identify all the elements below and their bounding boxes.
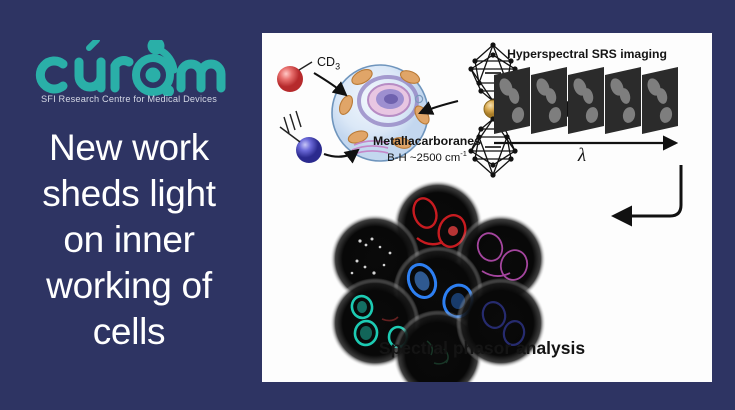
brand-column: SFI Research Centre for Medical Devices … bbox=[0, 0, 258, 410]
curam-tagline: SFI Research Centre for Medical Devices bbox=[29, 94, 229, 104]
headline-line: on inner bbox=[10, 217, 248, 263]
srs-panel bbox=[494, 67, 530, 134]
headline-line: working of bbox=[10, 263, 248, 309]
headline: New work sheds light on inner working of… bbox=[10, 125, 248, 355]
headline-line: cells bbox=[10, 309, 248, 355]
cd3-label: CD3 bbox=[317, 55, 340, 72]
poster-canvas: SFI Research Centre for Medical Devices … bbox=[0, 0, 735, 410]
logo-molecule-glyph bbox=[136, 40, 174, 96]
srs-panel bbox=[642, 67, 678, 134]
headline-line: sheds light bbox=[10, 171, 248, 217]
figure-graphic bbox=[262, 33, 712, 382]
srs-panel bbox=[531, 67, 567, 134]
curam-logo-icon bbox=[29, 40, 229, 96]
lambda-label: λ bbox=[562, 145, 602, 167]
srs-panel bbox=[605, 67, 641, 134]
alkyne-probe bbox=[280, 111, 322, 163]
metallacarboranes-caption: Metallacarboranes bbox=[337, 134, 517, 148]
feedback-arrow bbox=[614, 165, 681, 216]
bh-band-caption: B-H ~2500 cm-1 bbox=[337, 149, 517, 164]
srs-panel bbox=[568, 67, 604, 134]
hyperspectral-srs-caption: Hyperspectral SRS imaging bbox=[484, 47, 690, 61]
spectral-phasor-caption: Spectral phasor analysis bbox=[352, 338, 612, 359]
curam-logo: SFI Research Centre for Medical Devices bbox=[29, 40, 229, 118]
srs-image-stack bbox=[494, 67, 678, 143]
figure-panel: CD3 Metallacarboranes B-H ~2500 cm-1 Hyp… bbox=[262, 33, 712, 382]
headline-line: New work bbox=[10, 125, 248, 171]
cd3-probe bbox=[277, 62, 312, 92]
